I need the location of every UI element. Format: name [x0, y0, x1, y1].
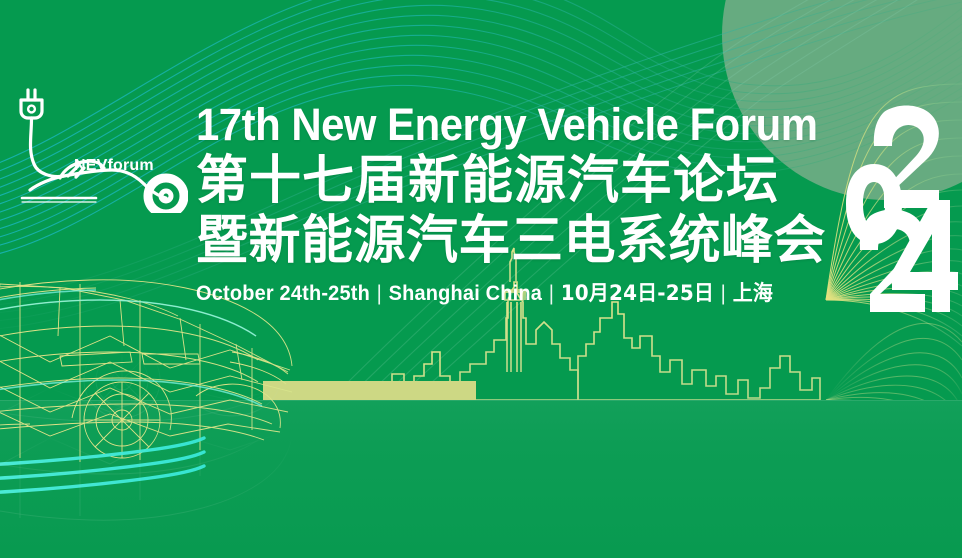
event-location-english: Shanghai China	[389, 282, 542, 305]
year-graphic	[840, 104, 958, 312]
electric-car-plug-icon	[8, 78, 188, 213]
event-location-chinese: 上海	[733, 281, 773, 305]
event-poster: NEVforum 17th New Energy Vehicle Forum 第…	[0, 0, 962, 558]
logo-brand-secondary: forum	[108, 157, 154, 174]
year-digit-2a	[874, 105, 939, 208]
event-date-english: October 24th-25th	[196, 282, 370, 305]
reflection-band	[0, 400, 962, 558]
horizon-line	[0, 400, 962, 401]
event-date-chinese: 10月24日-25日	[561, 281, 714, 305]
title-chinese-secondary: 暨新能源汽车三电系统峰会	[196, 212, 844, 270]
info-separator-1: |	[370, 282, 389, 305]
logo-wordmark: NEVforum	[74, 158, 154, 174]
event-info-line: October 24th-25th|Shanghai China|10月24日-…	[196, 281, 812, 306]
title-chinese-primary: 第十七届新能源汽车论坛	[196, 152, 844, 210]
title-english: 17th New Energy Vehicle Forum	[196, 100, 799, 150]
logo-brand-primary: NEV	[74, 157, 108, 174]
headline-block: 17th New Energy Vehicle Forum 第十七届新能源汽车论…	[196, 100, 844, 306]
info-separator-3: |	[714, 282, 733, 305]
year-2024-numerals	[840, 104, 958, 312]
info-separator-2: |	[542, 282, 561, 305]
nev-forum-logo[interactable]: NEVforum	[8, 78, 188, 213]
